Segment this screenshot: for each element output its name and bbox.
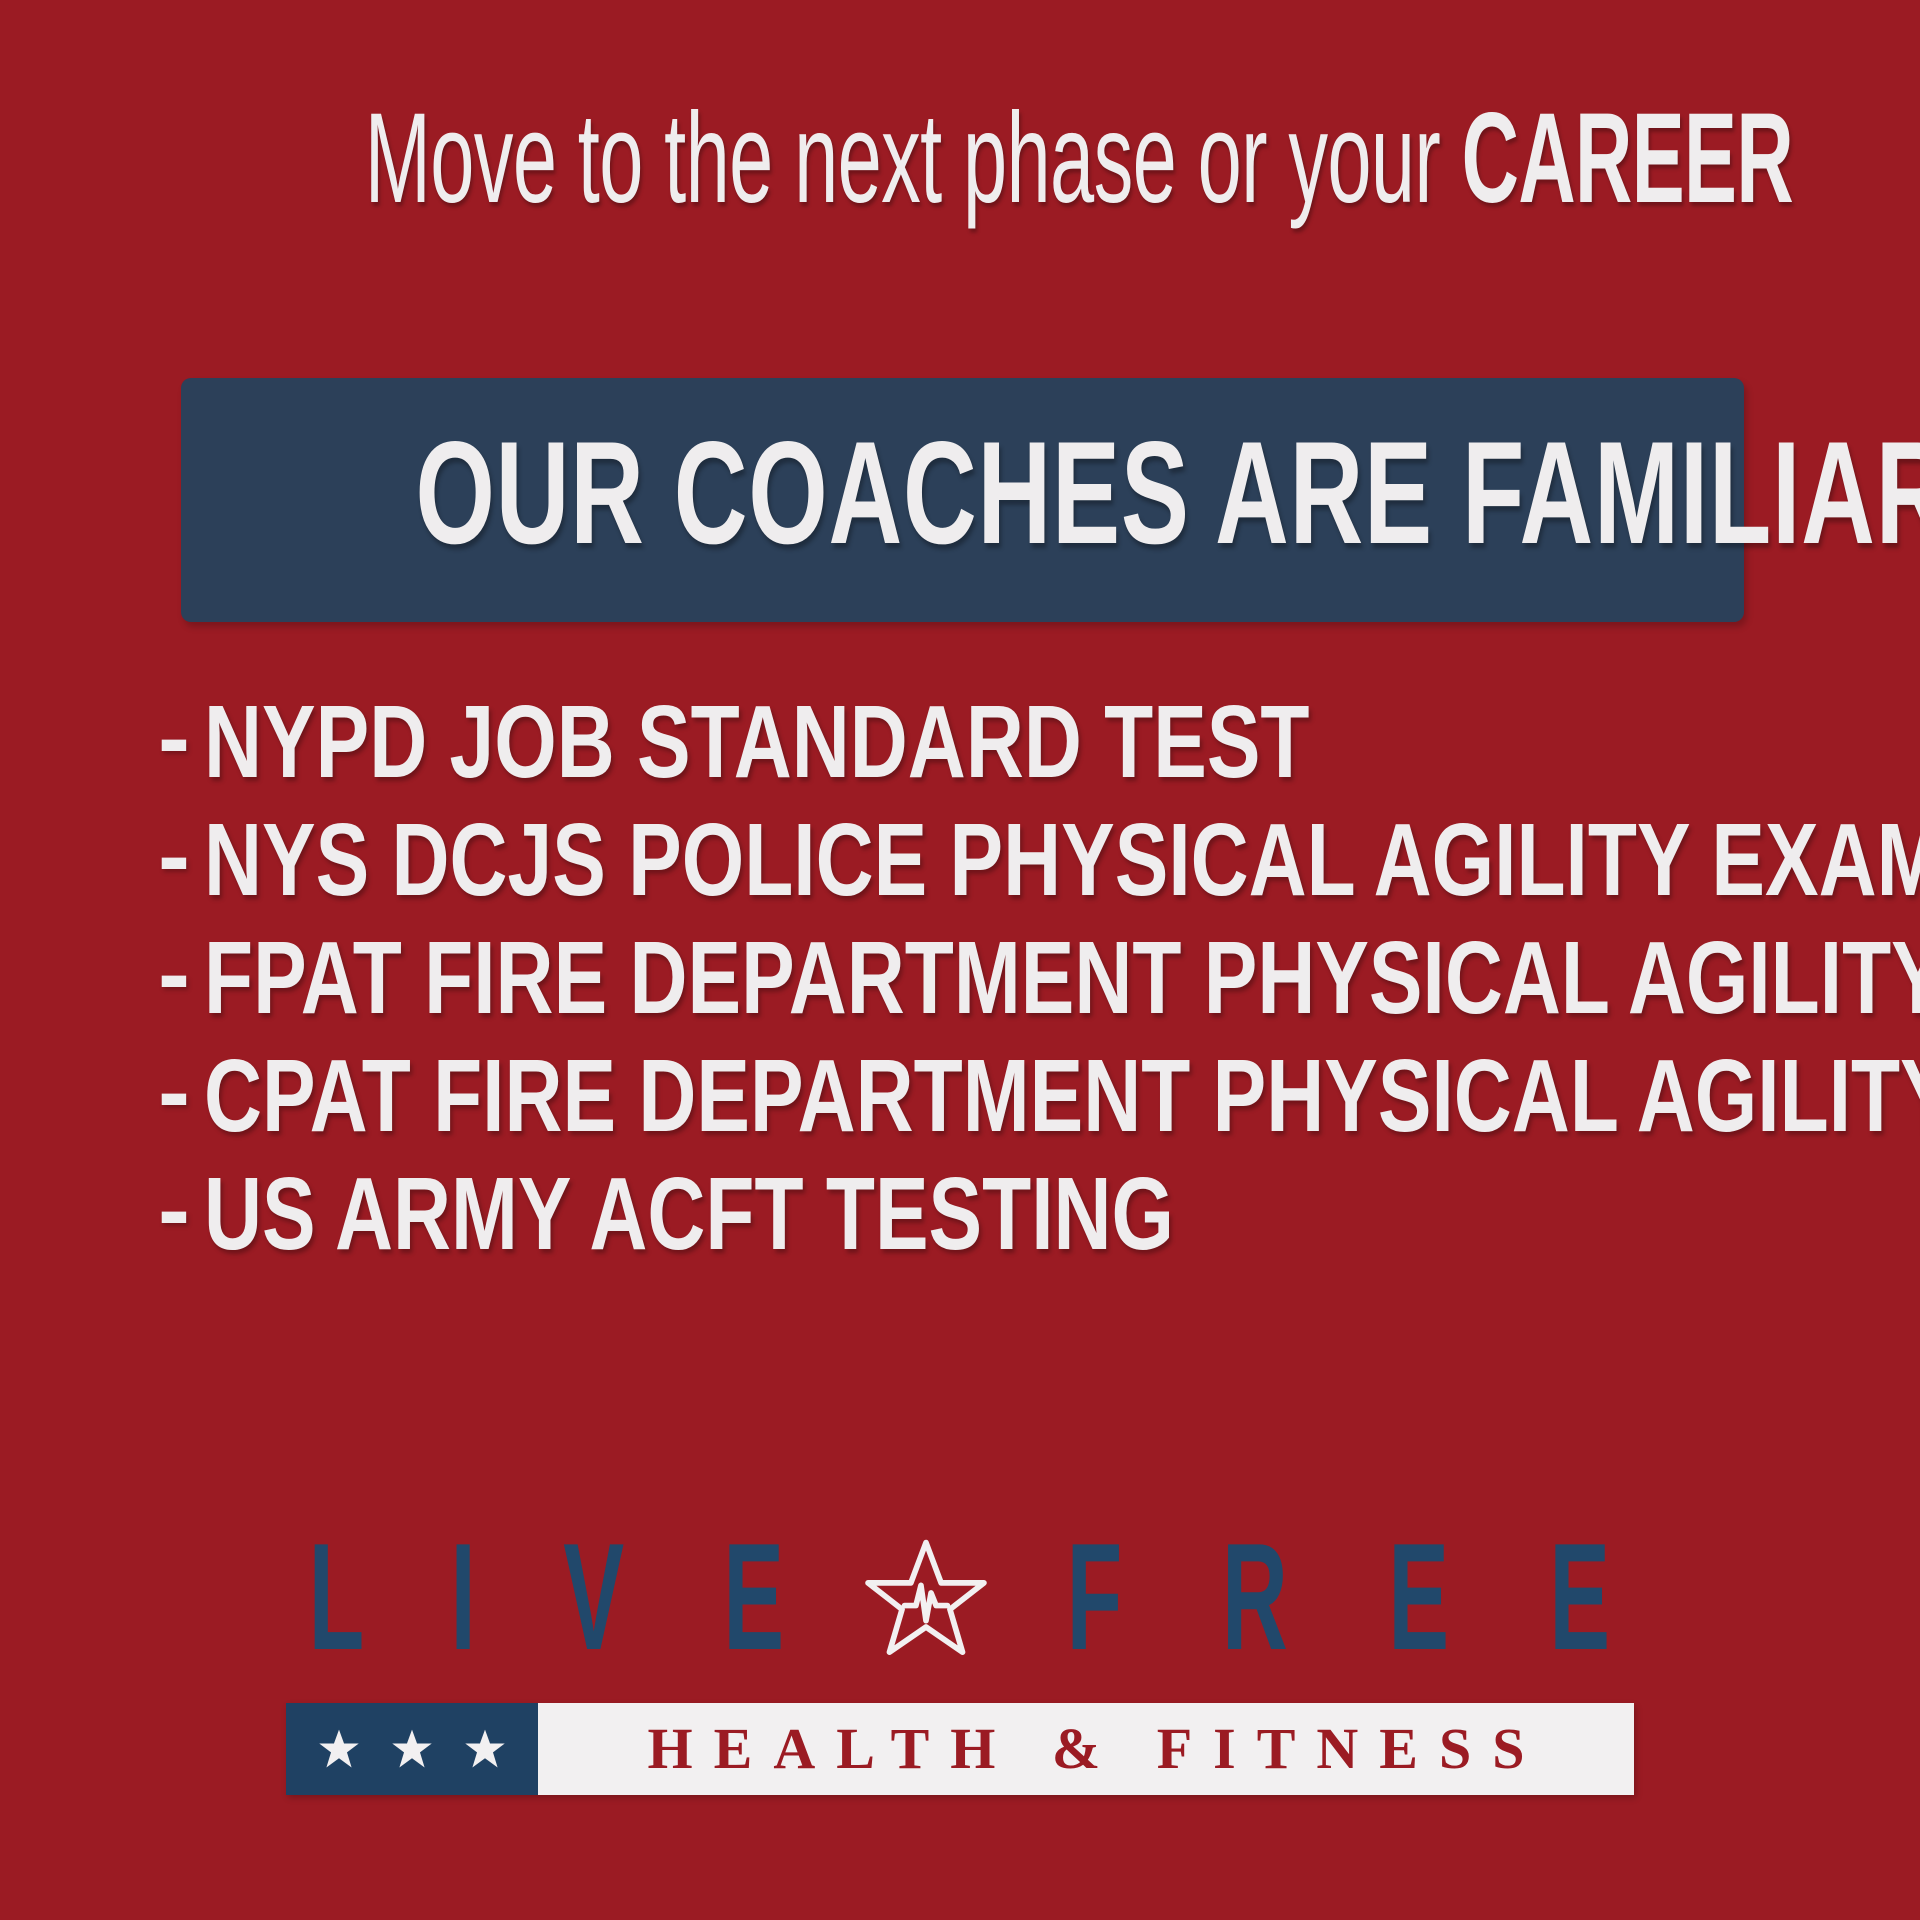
brand-letter: F [1067,1525,1123,1670]
brand-letter: V [563,1525,624,1670]
bullet-dash-icon: - [158,808,204,904]
headline-emphasis: CAREER [1462,87,1793,230]
coaches-banner-title: OUR COACHES ARE FAMILIAR WITH: [415,420,1509,566]
list-item-label: NYPD JOB STANDARD TEST [204,690,1310,794]
brand-logo: L I V E F R E E [286,1525,1634,1795]
bullet-dash-icon: - [158,1044,204,1140]
brand-letter: E [1549,1525,1610,1670]
star-icon [391,1728,433,1770]
brand-tagline: HEALTH & FITNESS [627,1703,1546,1795]
page-headline: Move to the next phase or your CAREER [365,95,1555,223]
tagline-block: HEALTH & FITNESS [538,1703,1634,1795]
bullet-dash-icon: - [158,1162,204,1258]
stars-block [286,1703,538,1795]
headline-lead: Move to the next phase or your [365,87,1462,230]
brand-letter: E [1389,1525,1450,1670]
coaches-banner: OUR COACHES ARE FAMILIAR WITH: [181,378,1744,622]
list-item: - NYPD JOB STANDARD TEST [158,690,1878,808]
list-item: - US ARMY ACFT TESTING [158,1162,1878,1280]
list-item: - CPAT FIRE DEPARTMENT PHYSICAL AGILITY … [158,1044,1878,1162]
list-item: - NYS DCJS POLICE PHYSICAL AGILITY EXAM [158,808,1878,926]
brand-wordmark: L I V E F R E E [286,1525,1634,1670]
bullet-dash-icon: - [158,926,204,1022]
brand-letter: L [309,1525,365,1670]
list-item-label: CPAT FIRE DEPARTMENT PHYSICAL AGILITY EX… [204,1044,1920,1148]
poster-canvas: Move to the next phase or your CAREER OU… [0,0,1920,1920]
star-icon [464,1728,506,1770]
list-item-label: NYS DCJS POLICE PHYSICAL AGILITY EXAM [204,808,1920,912]
star-icon [318,1728,360,1770]
bullet-dash-icon: - [158,690,204,786]
brand-letter: R [1222,1525,1288,1670]
brand-tagline-bar: HEALTH & FITNESS [286,1703,1634,1795]
list-item-label: US ARMY ACFT TESTING [204,1162,1174,1266]
star-heartbeat-icon [863,1535,989,1661]
list-item-label: FPAT FIRE DEPARTMENT PHYSICAL AGILITY EX… [204,926,1920,1030]
brand-letter: I [450,1525,475,1670]
list-item: - FPAT FIRE DEPARTMENT PHYSICAL AGILITY … [158,926,1878,1044]
brand-letter: E [723,1525,784,1670]
familiar-tests-list: - NYPD JOB STANDARD TEST - NYS DCJS POLI… [158,690,1878,1280]
